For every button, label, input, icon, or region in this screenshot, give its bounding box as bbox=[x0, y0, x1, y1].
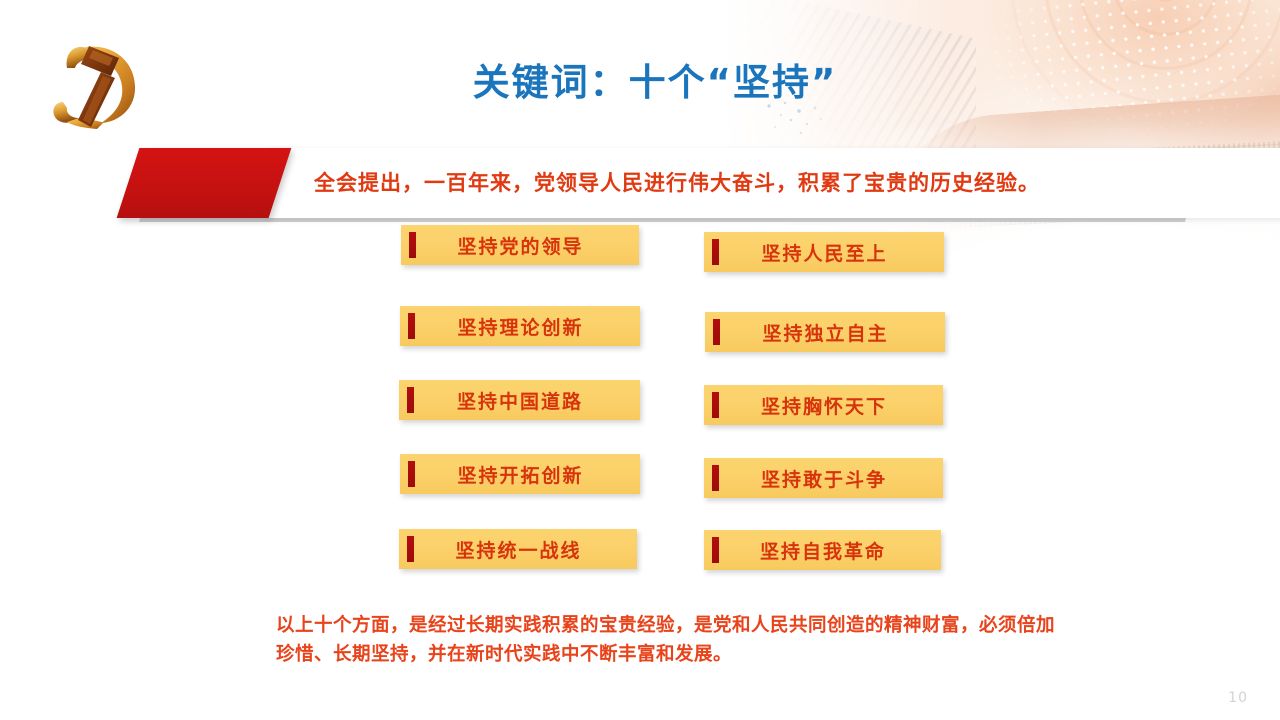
item-accent-bar bbox=[712, 537, 719, 563]
item-accent-bar bbox=[408, 313, 415, 339]
item-right-2[interactable]: 坚持独立自主 bbox=[705, 312, 945, 352]
item-label: 坚持理论创新 bbox=[415, 313, 640, 340]
item-accent-bar bbox=[713, 319, 720, 345]
slide-root: 关键词：十个“坚持” 全会提出，一百年来，党领导人民进行伟大奋斗，积累了宝贵的历… bbox=[0, 0, 1280, 720]
item-label: 坚持党的领导 bbox=[416, 232, 639, 259]
item-accent-bar bbox=[712, 239, 719, 265]
item-label: 坚持人民至上 bbox=[719, 239, 944, 266]
item-left-5[interactable]: 坚持统一战线 bbox=[399, 529, 637, 569]
item-label: 坚持开拓创新 bbox=[415, 461, 640, 488]
item-left-3[interactable]: 坚持中国道路 bbox=[399, 380, 640, 420]
item-left-1[interactable]: 坚持党的领导 bbox=[401, 225, 639, 265]
item-left-2[interactable]: 坚持理论创新 bbox=[400, 306, 640, 346]
item-right-5[interactable]: 坚持自我革命 bbox=[704, 530, 941, 570]
item-right-1[interactable]: 坚持人民至上 bbox=[704, 232, 944, 272]
item-label: 坚持中国道路 bbox=[414, 387, 640, 414]
item-label: 坚持独立自主 bbox=[720, 319, 945, 346]
item-accent-bar bbox=[409, 232, 416, 258]
item-accent-bar bbox=[407, 536, 414, 562]
item-accent-bar bbox=[407, 387, 414, 413]
item-label: 坚持胸怀天下 bbox=[719, 392, 943, 419]
item-accent-bar bbox=[408, 461, 415, 487]
item-label: 坚持敢于斗争 bbox=[719, 465, 943, 492]
item-right-4[interactable]: 坚持敢于斗争 bbox=[704, 458, 943, 498]
item-right-3[interactable]: 坚持胸怀天下 bbox=[704, 385, 943, 425]
item-label: 坚持统一战线 bbox=[414, 536, 637, 563]
item-left-4[interactable]: 坚持开拓创新 bbox=[400, 454, 640, 494]
item-accent-bar bbox=[712, 465, 719, 491]
item-accent-bar bbox=[712, 392, 719, 418]
page-number: 10 bbox=[1228, 690, 1248, 706]
summary-paragraph: 以上十个方面，是经过长期实践积累的宝贵经验，是党和人民共同创造的精神财富，必须倍… bbox=[276, 612, 1066, 669]
item-label: 坚持自我革命 bbox=[719, 537, 941, 564]
